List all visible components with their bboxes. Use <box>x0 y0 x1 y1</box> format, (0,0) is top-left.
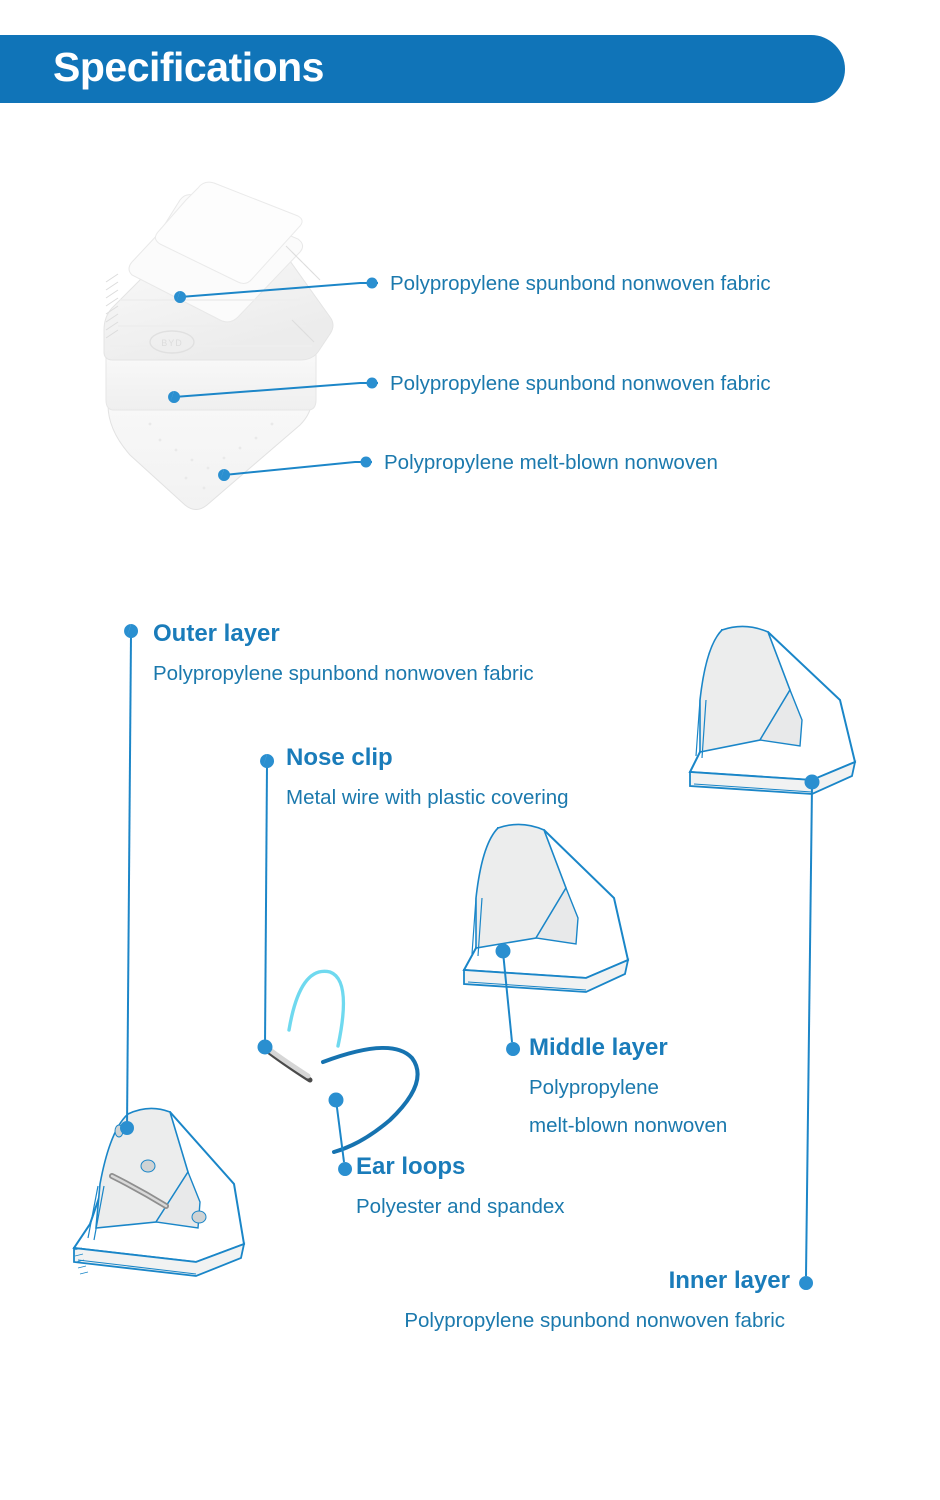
inner-layer-subtitle: Polypropylene spunbond nonwoven fabric <box>404 1309 785 1333</box>
middle-layer-title: Middle layer <box>529 1034 668 1062</box>
mask-photo-illustration: BYD <box>0 0 940 1500</box>
ear-loops-drawing <box>289 971 418 1152</box>
mask-outer-layer-drawing <box>74 1108 244 1276</box>
photo-callout-1-label: Polypropylene spunbond nonwoven fabric <box>390 272 771 296</box>
photo-callout-3-label: Polypropylene melt-blown nonwoven <box>384 451 718 475</box>
outer-layer-subtitle: Polypropylene spunbond nonwoven fabric <box>153 662 534 686</box>
mask-middle-layer-drawing <box>464 824 628 992</box>
nose-clip-drawing <box>262 1044 310 1080</box>
middle-layer-subtitle-line1: Polypropylene <box>529 1076 659 1100</box>
inner-layer-title: Inner layer <box>669 1267 790 1295</box>
nose-clip-subtitle: Metal wire with plastic covering <box>286 786 569 810</box>
mask-inner-layer-drawing <box>690 626 855 794</box>
photo-callout-2-label: Polypropylene spunbond nonwoven fabric <box>390 372 771 396</box>
middle-layer-subtitle-line2: melt-blown nonwoven <box>529 1114 727 1138</box>
nose-clip-title: Nose clip <box>286 744 393 772</box>
svg-text:BYD: BYD <box>161 338 183 348</box>
outer-layer-title: Outer layer <box>153 620 280 648</box>
photo-callout-connectors <box>0 0 940 1500</box>
diagram-callout-connectors <box>0 0 940 1500</box>
ear-loops-title: Ear loops <box>356 1153 465 1181</box>
ear-loops-subtitle: Polyester and spandex <box>356 1195 565 1219</box>
mask-lineart-diagrams <box>0 0 940 1500</box>
page-title: Specifications <box>53 44 324 91</box>
